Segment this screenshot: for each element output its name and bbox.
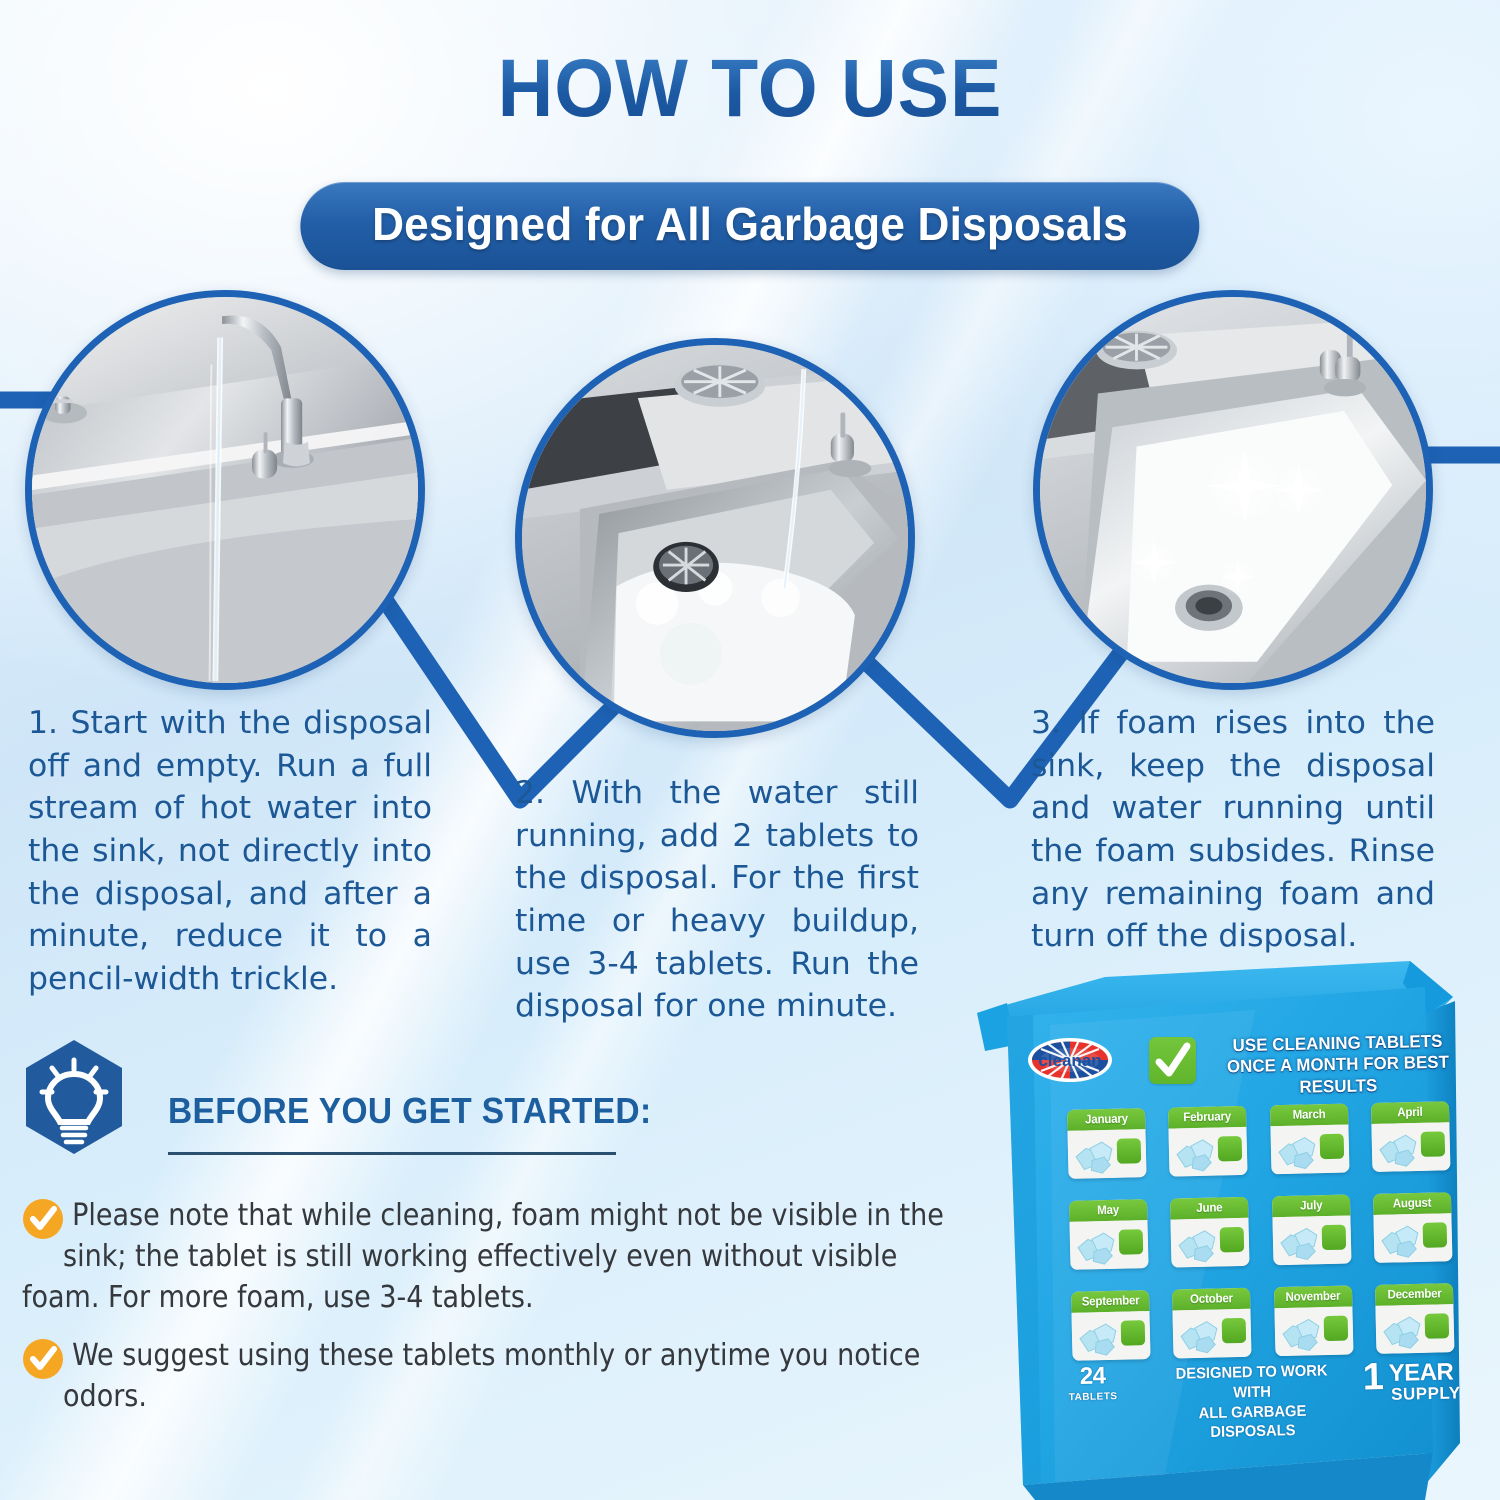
step-3-text: 3. If foam rises into the sink, keep the… [1031, 702, 1435, 958]
section-divider [168, 1152, 616, 1155]
subtitle-badge: Designed for All Garbage Disposals [300, 182, 1199, 270]
product-box: cleanan USE CLEANING TABLETS ONCE A MONT… [955, 955, 1500, 1500]
before-started-heading: BEFORE YOU GET STARTED: [168, 1090, 688, 1132]
step-2-text: 2. With the water still running, add 2 t… [515, 772, 919, 1028]
orange-check-icon [22, 1338, 64, 1380]
lightbulb-icon [22, 1038, 126, 1156]
product-box-shape [955, 955, 1500, 1500]
step-1-photo [25, 290, 425, 690]
step-3-photo [1033, 290, 1433, 690]
page-title: HOW TO USE [45, 42, 1455, 136]
bullet-1-text: Please note that while cleaning, foam mi… [22, 1198, 944, 1315]
bullet-item-1: Please note that while cleaning, foam mi… [22, 1196, 952, 1318]
orange-check-icon [22, 1198, 64, 1240]
step-2-photo [515, 338, 915, 738]
bullet-item-2: We suggest using these tablets monthly o… [22, 1336, 952, 1418]
subtitle-badge-label: Designed for All Garbage Disposals [372, 197, 1128, 251]
infographic-page: HOW TO USE Designed for All Garbage Disp… [0, 0, 1500, 1500]
bullet-2-text: We suggest using these tablets monthly o… [63, 1338, 920, 1414]
step-1-text: 1. Start with the disposal off and empty… [28, 702, 432, 1001]
